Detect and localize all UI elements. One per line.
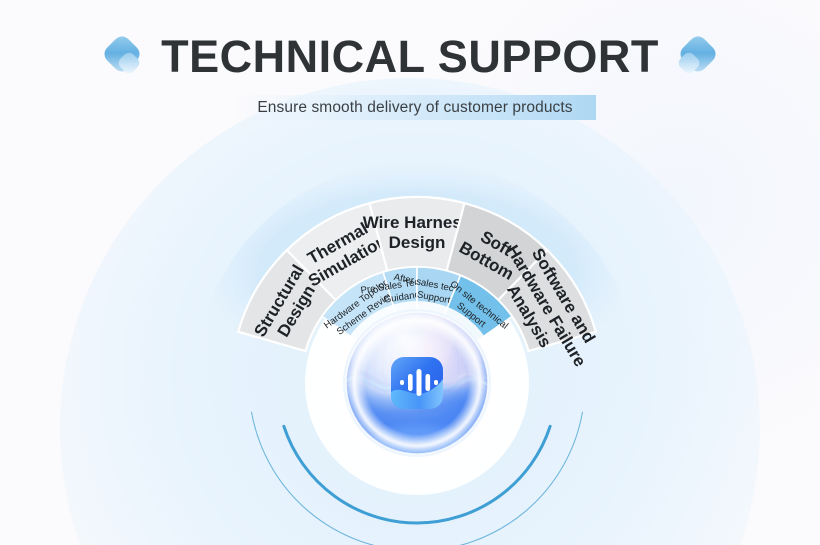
screenshot-root: TECHNICAL SUPPORT Ensure smooth delivery… <box>0 0 820 545</box>
radial-diagram: StructuralDesignThermalSimulationWire Ha… <box>0 0 820 545</box>
radial-diagram-svg: StructuralDesignThermalSimulationWire Ha… <box>0 0 820 545</box>
audio-waveform-icon[interactable] <box>391 357 443 409</box>
